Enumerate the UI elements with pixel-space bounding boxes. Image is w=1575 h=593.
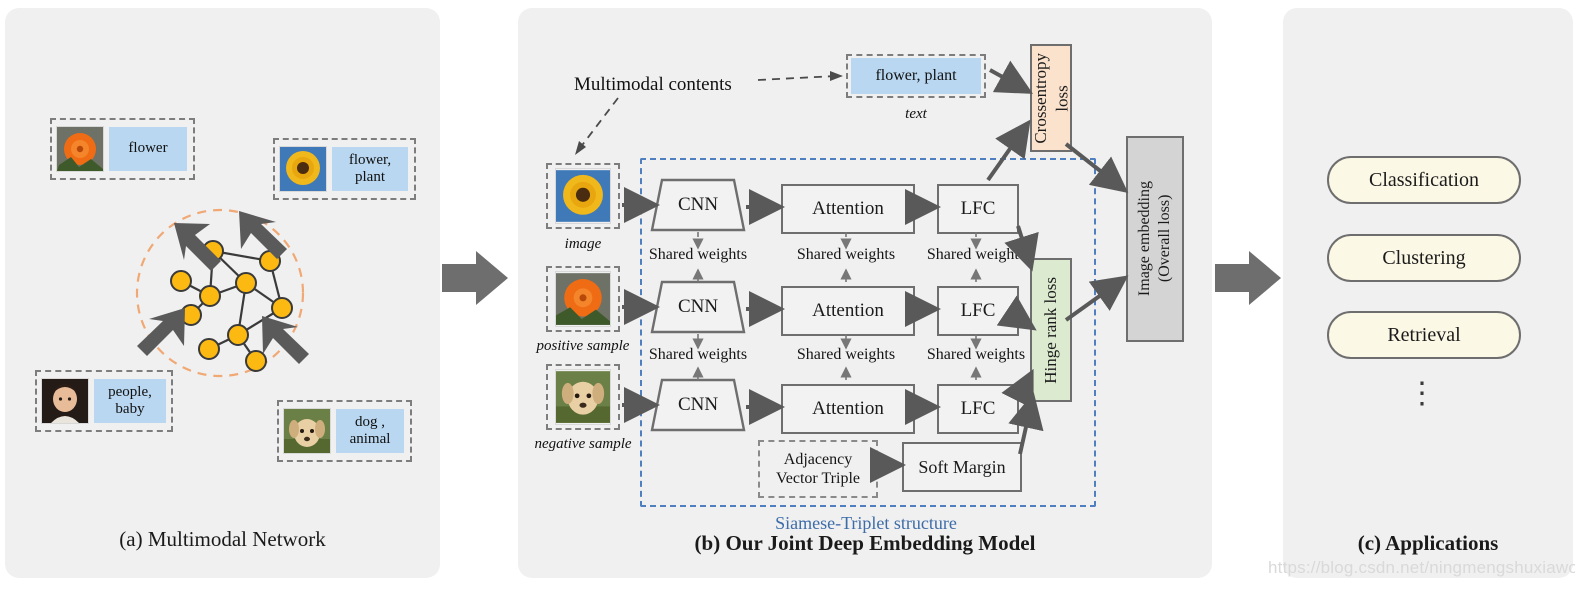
flow-arrow-b-to-c	[1215, 248, 1285, 318]
panel-joint-embedding-model: Siamese-Triplet structure Multimodal con…	[518, 8, 1212, 578]
application-label: Clustering	[1382, 247, 1465, 270]
panel-c-caption: (c) Applications	[1283, 531, 1573, 556]
pipeline-connectors	[518, 8, 1212, 578]
application-label: Classification	[1369, 169, 1479, 192]
multimodal-graph	[5, 8, 440, 578]
panel-applications: Classification Clustering Retrieval ⋮ (c…	[1283, 8, 1573, 578]
application-label: Retrieval	[1387, 324, 1460, 347]
application-retrieval[interactable]: Retrieval	[1327, 311, 1521, 359]
panel-a-caption: (a) Multimodal Network	[5, 527, 440, 552]
flow-arrow-a-to-b	[442, 248, 512, 318]
panel-multimodal-network: flower flower, plant	[5, 8, 440, 578]
application-clustering[interactable]: Clustering	[1327, 234, 1521, 282]
more-applications-ellipsis: ⋮	[1407, 388, 1437, 401]
watermark: https://blog.csdn.net/ningmengshuxiawo	[1268, 558, 1575, 578]
panel-b-caption: (b) Our Joint Deep Embedding Model	[518, 531, 1212, 556]
application-classification[interactable]: Classification	[1327, 156, 1521, 204]
